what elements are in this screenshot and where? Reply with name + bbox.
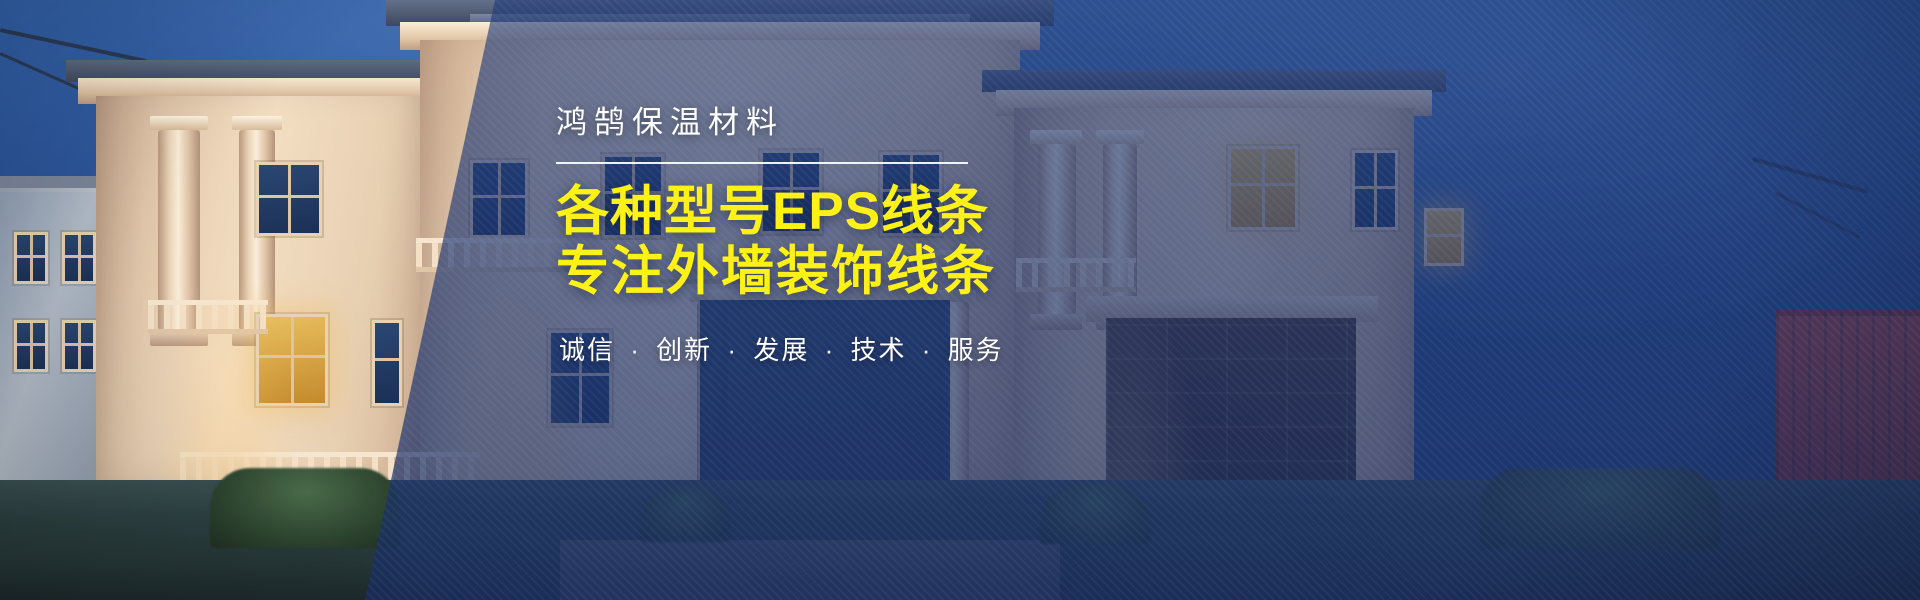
hedge [210,468,400,548]
distant-window [14,232,48,284]
hero-banner: 鸿鹄保温材料 各种型号EPS线条 专注外墙装饰线条 诚信 · 创新 · 发展 ·… [0,0,1920,600]
window [372,320,402,406]
headline-line-1: 各种型号EPS线条 [556,182,1256,241]
banner-text-block: 鸿鹄保温材料 各种型号EPS线条 专注外墙装饰线条 诚信 · 创新 · 发展 ·… [556,104,1256,367]
distant-window [62,320,96,372]
column-capital [150,116,208,130]
brand-name: 鸿鹄保温材料 [556,104,1256,141]
column-capital [232,116,282,130]
tagline-item-3: 发展 [753,335,809,365]
distant-window [62,232,96,284]
tagline-item-5: 服务 [948,335,1004,365]
tagline: 诚信 · 创新 · 发展 · 技术 · 服务 [556,330,1256,367]
tagline-separator: · [630,335,641,365]
tagline-item-2: 创新 [656,335,712,365]
tagline-item-1: 诚信 [559,335,615,365]
window [256,162,322,236]
tagline-separator: · [922,335,933,365]
tagline-item-4: 技术 [850,335,906,365]
distant-window [14,320,48,372]
headline-line-2: 专注外墙装饰线条 [556,242,1256,301]
tagline-separator: · [825,335,836,365]
tagline-separator: · [727,335,738,365]
balustrade [148,300,268,334]
divider-rule [556,162,968,164]
